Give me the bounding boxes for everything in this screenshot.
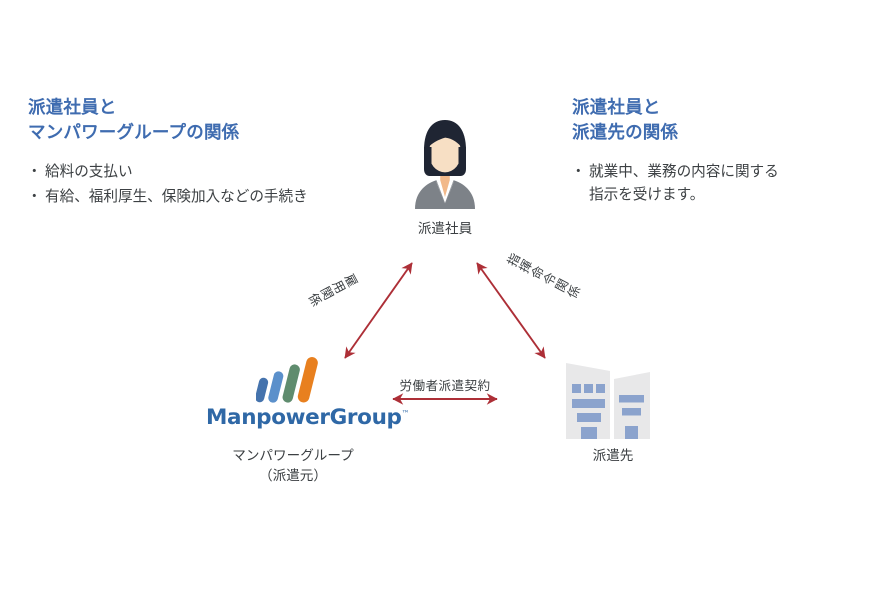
left-block-bullet-list: 給料の支払い 有給、福利厚生、保険加入などの手続き <box>28 160 368 209</box>
right-block-bullet-list: 就業中、業務の内容に関する 指示を受けます。 <box>572 160 872 207</box>
node-client <box>563 355 653 440</box>
node-worker <box>411 117 479 209</box>
diagram-canvas: 派遣社員と マンパワーグループの関係 給料の支払い 有給、福利厚生、保険加入など… <box>0 0 888 592</box>
logo-wordmark-text: ManpowerGroup <box>206 405 402 430</box>
caption-worker: 派遣社員 <box>385 219 505 239</box>
right-block-title: 派遣社員と 派遣先の関係 <box>572 96 872 146</box>
edge-label-command: 指揮命令関係 <box>503 249 584 304</box>
edge-label-contract: 労働者派遣契約 <box>391 375 499 394</box>
edge-label-employment: 雇用関係 <box>304 268 361 310</box>
left-relationship-block: 派遣社員と マンパワーグループの関係 給料の支払い 有給、福利厚生、保険加入など… <box>28 96 368 211</box>
node-agency: ManpowerGroup™ <box>206 355 381 437</box>
caption-client: 派遣先 <box>548 446 678 466</box>
caption-agency: マンパワーグループ （派遣元） <box>198 446 388 487</box>
office-buildings-icon <box>563 355 653 440</box>
logo-wordmark: ManpowerGroup™ <box>206 405 381 430</box>
right-relationship-block: 派遣社員と 派遣先の関係 就業中、業務の内容に関する 指示を受けます。 <box>572 96 872 209</box>
left-block-title: 派遣社員と マンパワーグループの関係 <box>28 96 368 146</box>
trademark-symbol: ™ <box>402 409 410 418</box>
manpowergroup-logo-icon <box>256 355 322 405</box>
list-item: 給料の支払い <box>28 160 368 184</box>
connector-arrows <box>0 0 888 592</box>
person-avatar-icon <box>411 117 479 209</box>
list-item: 有給、福利厚生、保険加入などの手続き <box>28 185 368 209</box>
list-item: 就業中、業務の内容に関する 指示を受けます。 <box>572 160 872 207</box>
